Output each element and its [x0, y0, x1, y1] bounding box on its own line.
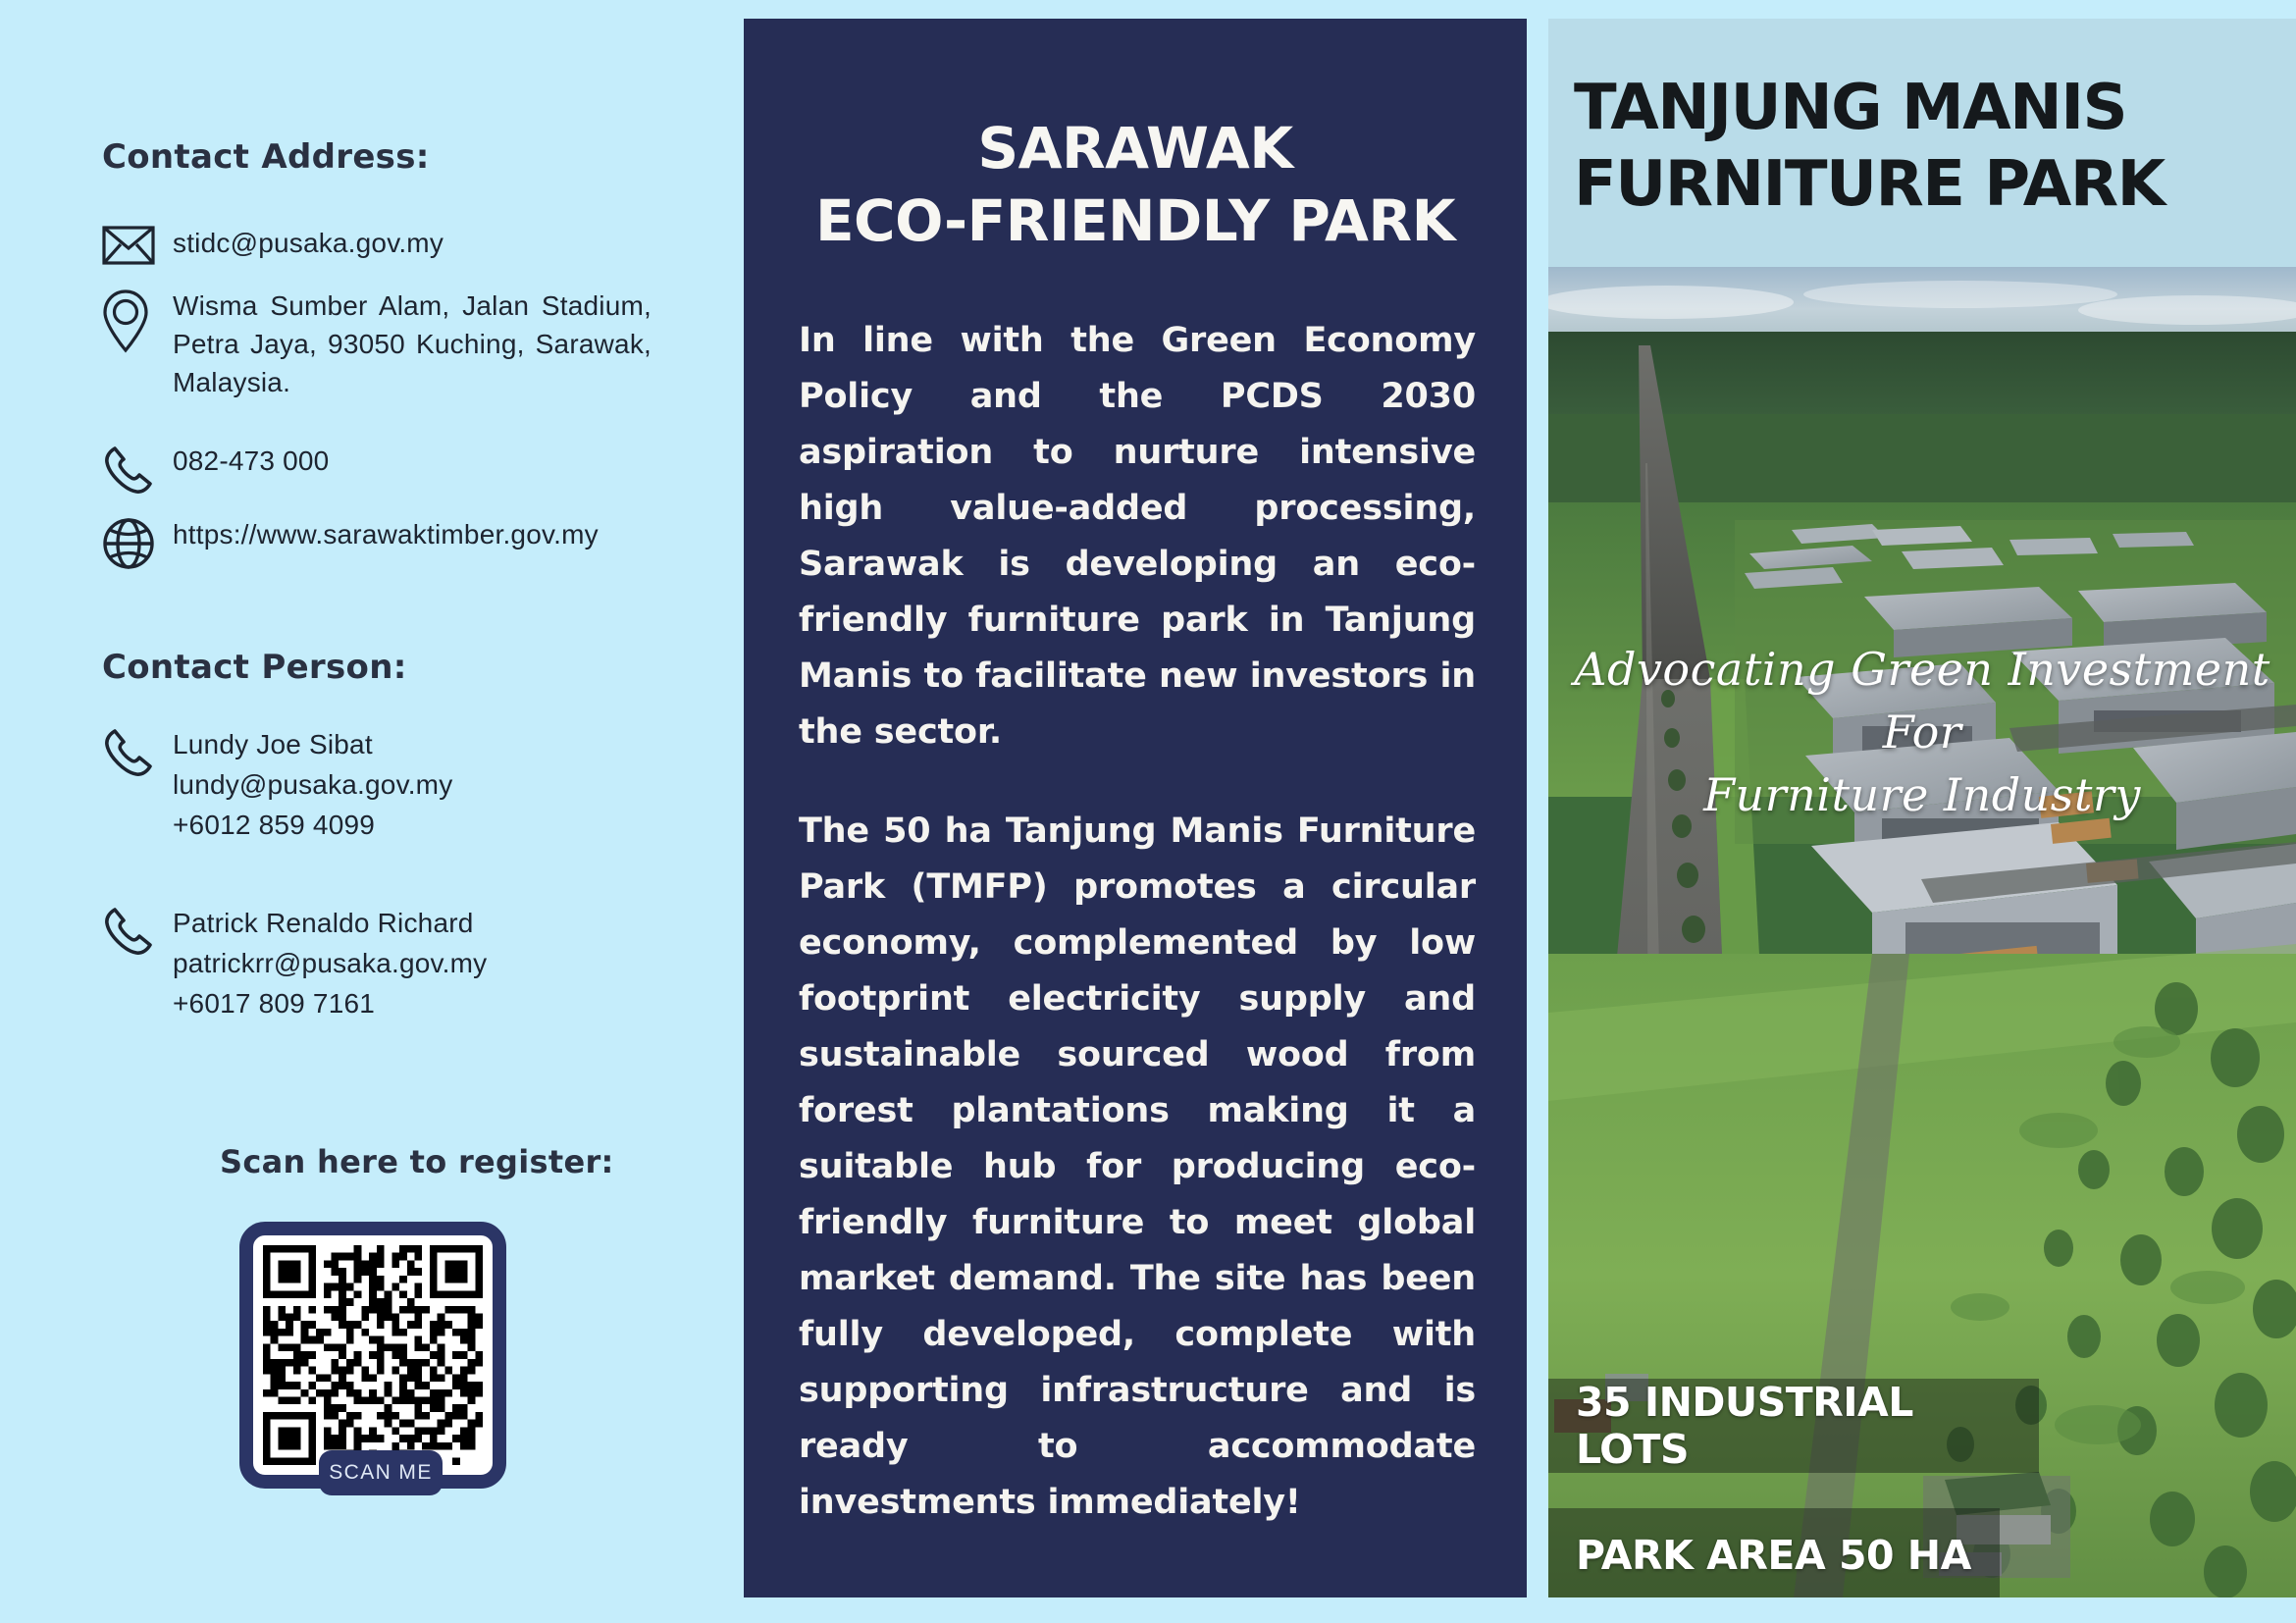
- person-2-name: Patrick Renaldo Richard: [173, 908, 474, 938]
- right-title-line-2: FURNITURE PARK: [1574, 146, 2280, 223]
- right-title-line-1: TANJUNG MANIS: [1574, 72, 2126, 144]
- center-info-panel: SARAWAK ECO-FRIENDLY PARK In line with t…: [744, 19, 1527, 1597]
- contact-person-1: Lundy Joe Sibat lundy@pusaka.gov.my +601…: [102, 724, 691, 845]
- center-title-line-1: SARAWAK: [977, 115, 1292, 182]
- person-1-email[interactable]: lundy@pusaka.gov.my: [173, 769, 452, 800]
- photo-tagline: Advocating Green Investment For Furnitur…: [1548, 638, 2296, 826]
- phone-icon: [102, 442, 173, 497]
- qr-code[interactable]: [239, 1222, 506, 1489]
- center-title-line-2: ECO-FRIENDLY PARK: [744, 184, 1527, 257]
- contact-person-2: Patrick Renaldo Richard patrickrr@pusaka…: [102, 903, 691, 1023]
- envelope-icon: [102, 224, 173, 265]
- scan-here-heading: Scan here to register:: [220, 1143, 614, 1180]
- contact-person-1-details: Lundy Joe Sibat lundy@pusaka.gov.my +601…: [173, 724, 452, 845]
- phone-icon: [102, 724, 173, 779]
- stat-industrial-lots: 35 INDUSTRIAL LOTS: [1548, 1379, 2039, 1473]
- center-panel-body: In line with the Green Economy Policy an…: [799, 313, 1476, 1531]
- qr-code-canvas[interactable]: [263, 1245, 483, 1465]
- center-paragraph-2: The 50 ha Tanjung Manis Furniture Park (…: [799, 804, 1476, 1531]
- contact-website-text[interactable]: https://www.sarawaktimber.gov.my: [173, 515, 599, 553]
- center-paragraph-1: In line with the Green Economy Policy an…: [799, 313, 1476, 760]
- contact-address-text: Wisma Sumber Alam, Jalan Stadium, Petra …: [173, 287, 652, 401]
- brochure-page: Contact Address: stidc@pusaka.gov.my Wis…: [0, 0, 2296, 1623]
- contact-phone-text[interactable]: 082-473 000: [173, 442, 329, 480]
- phone-icon: [102, 903, 173, 958]
- contact-row-phone: 082-473 000: [102, 442, 652, 497]
- left-contact-panel: Contact Address: stidc@pusaka.gov.my Wis…: [0, 0, 744, 1623]
- stat-park-area: PARK AREA 50 HA: [1548, 1508, 2000, 1597]
- contact-row-address: Wisma Sumber Alam, Jalan Stadium, Petra …: [102, 287, 652, 401]
- tagline-line-2: Furniture Industry: [1548, 763, 2296, 826]
- contact-address-heading: Contact Address:: [102, 137, 430, 177]
- scan-me-badge: SCAN ME: [319, 1450, 443, 1495]
- tagline-line-1: Advocating Green Investment For: [1574, 643, 2270, 759]
- right-panel-title: TANJUNG MANIS FURNITURE PARK: [1574, 70, 2280, 223]
- center-panel-title: SARAWAK ECO-FRIENDLY PARK: [744, 112, 1527, 257]
- globe-icon: [102, 515, 173, 570]
- right-hero-panel: TANJUNG MANIS FURNITURE PARK: [1548, 19, 2296, 1597]
- person-1-name: Lundy Joe Sibat: [173, 729, 373, 759]
- contact-row-website: https://www.sarawaktimber.gov.my: [102, 515, 710, 570]
- aerial-park-photo: Advocating Green Investment For Furnitur…: [1548, 267, 2296, 1597]
- contact-person-heading: Contact Person:: [102, 648, 407, 687]
- person-2-email[interactable]: patrickrr@pusaka.gov.my: [173, 948, 487, 978]
- contact-person-2-details: Patrick Renaldo Richard patrickrr@pusaka…: [173, 903, 487, 1023]
- location-pin-icon: [102, 287, 173, 353]
- contact-row-email: stidc@pusaka.gov.my: [102, 224, 652, 265]
- contact-email-text[interactable]: stidc@pusaka.gov.my: [173, 224, 444, 262]
- person-2-phone[interactable]: +6017 809 7161: [173, 988, 375, 1019]
- person-1-phone[interactable]: +6012 859 4099: [173, 810, 375, 840]
